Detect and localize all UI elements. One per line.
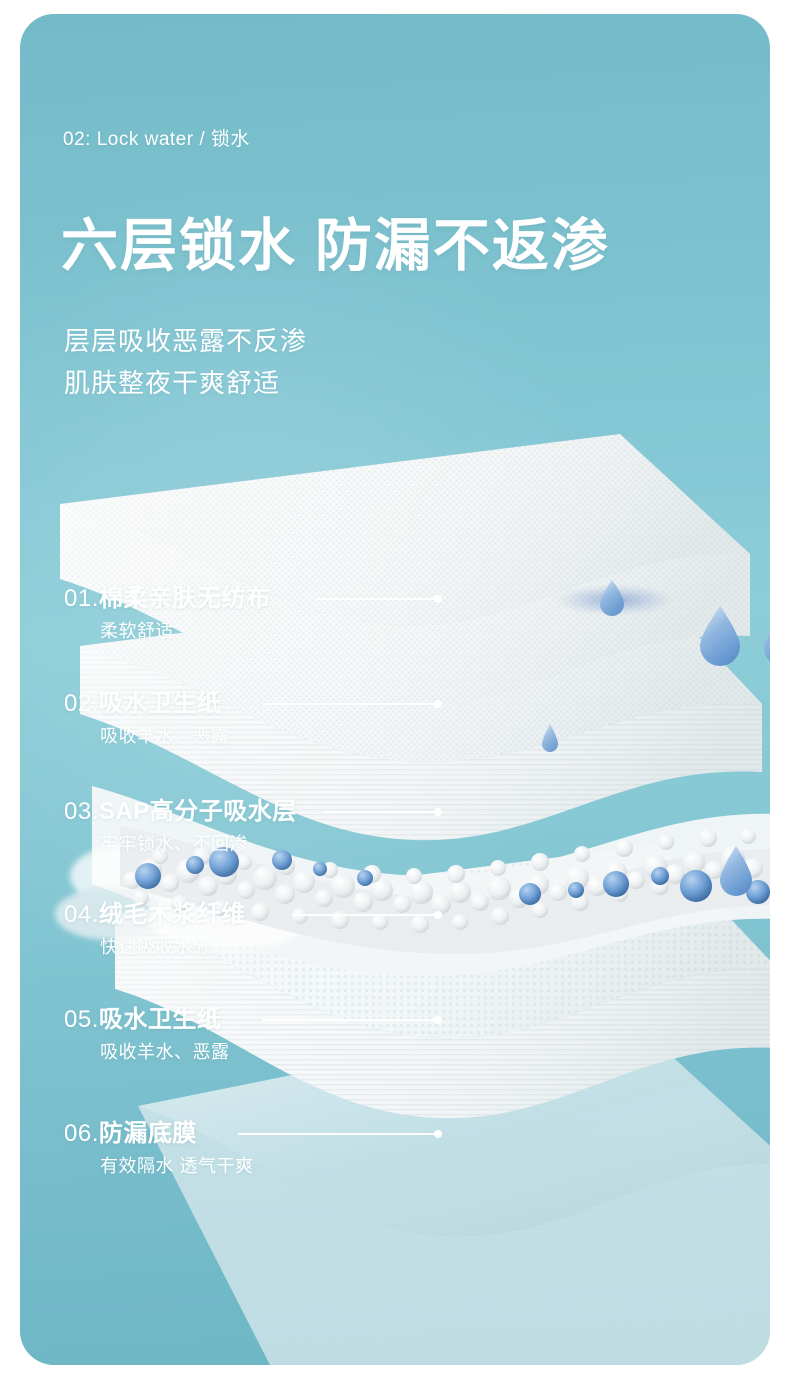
layer-desc: 快速吸收水分 [100, 936, 246, 958]
layer-name: 防漏底膜 [99, 1120, 197, 1147]
layer-desc: 柔软舒适 [100, 620, 270, 642]
layer-desc: 吸收羊水、恶露 [100, 725, 230, 747]
layer-title: 03.SAP高分子吸水层 [64, 798, 297, 826]
list-item: 04.绒毛木浆纤维 快速吸收水分 [64, 901, 246, 958]
layer-name: 棉柔亲肤无纺布 [99, 585, 271, 612]
leader-dot [434, 1130, 442, 1138]
layer-title: 02.吸水卫生纸 [64, 690, 230, 718]
leader-dot [434, 911, 442, 919]
layer-number: 03. [64, 798, 99, 825]
leader-line [238, 1133, 438, 1135]
list-item: 03.SAP高分子吸水层 牢牢锁水、不回渗 [64, 798, 297, 855]
leader-dot [434, 595, 442, 603]
layer-number: 01. [64, 585, 99, 612]
leader-line [316, 598, 438, 600]
list-item: 02.吸水卫生纸 吸收羊水、恶露 [64, 690, 230, 747]
layer-number: 06. [64, 1120, 99, 1147]
infographic-page: 02: Lock water / 锁水 六层锁水 防漏不返渗 层层吸收恶露不反渗… [0, 0, 790, 1379]
leader-dot [434, 700, 442, 708]
layer-number: 02. [64, 690, 99, 717]
layer-name: 吸水卫生纸 [99, 690, 222, 717]
layer-name: 绒毛木浆纤维 [99, 901, 246, 928]
layer-number: 05. [64, 1006, 99, 1033]
product-feature-card: 02: Lock water / 锁水 六层锁水 防漏不返渗 层层吸收恶露不反渗… [20, 14, 770, 1365]
layer-desc: 吸收羊水、恶露 [100, 1041, 230, 1063]
leader-line [324, 811, 438, 813]
layer-name: 吸水卫生纸 [99, 1006, 222, 1033]
list-item: 06.防漏底膜 有效隔水 透气干爽 [64, 1120, 254, 1177]
leader-line [292, 914, 438, 916]
layer-desc: 有效隔水 透气干爽 [100, 1155, 254, 1177]
layer-title: 05.吸水卫生纸 [64, 1006, 230, 1034]
layer-label-list: 01.棉柔亲肤无纺布 柔软舒适 02.吸水卫生纸 吸收羊水、恶露 03.SAP高… [20, 14, 770, 1365]
leader-line [262, 703, 438, 705]
layer-title: 01.棉柔亲肤无纺布 [64, 585, 270, 613]
layer-desc: 牢牢锁水、不回渗 [100, 833, 297, 855]
layer-title: 04.绒毛木浆纤维 [64, 901, 246, 929]
leader-dot [434, 1016, 442, 1024]
layer-number: 04. [64, 901, 99, 928]
list-item: 01.棉柔亲肤无纺布 柔软舒适 [64, 585, 270, 642]
layer-name: SAP高分子吸水层 [99, 798, 297, 825]
leader-line [262, 1019, 438, 1021]
layer-title: 06.防漏底膜 [64, 1120, 254, 1148]
list-item: 05.吸水卫生纸 吸收羊水、恶露 [64, 1006, 230, 1063]
leader-dot [434, 808, 442, 816]
